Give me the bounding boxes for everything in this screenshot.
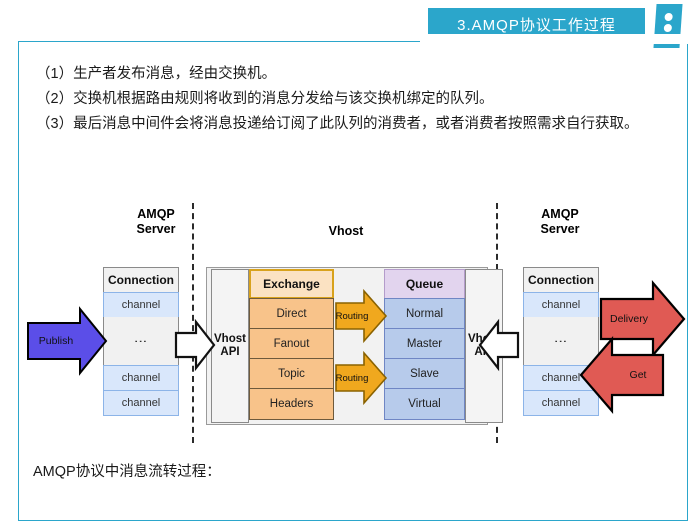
right-channel-ellipsis: ⋮: [523, 317, 599, 366]
left-server-title-line1: AMQP: [137, 207, 175, 221]
bottom-caption: AMQP协议中消息流转过程：: [33, 460, 221, 481]
get-arrow-label: Get: [616, 367, 660, 383]
exchange-item-fanout: Fanout: [249, 328, 334, 359]
right-channel-b2: channel: [523, 390, 599, 416]
vhost-api-right: Vhost API: [465, 269, 503, 423]
left-connection-column: Connection channel ⋮ channel channel: [103, 267, 179, 416]
delivery-arrow-icon: [601, 283, 684, 355]
queue-item-master: Master: [384, 328, 465, 359]
queue-item-slave: Slave: [384, 358, 465, 389]
dashed-separator-left: [192, 203, 194, 443]
right-server-title-line1: AMQP: [541, 207, 579, 221]
queue-stack: Queue Normal Master Slave Virtual: [384, 269, 465, 420]
right-server-title-line2: Server: [541, 222, 580, 236]
frame-top-mask: [420, 34, 688, 44]
vhost-api-left-line2: API: [220, 346, 239, 359]
right-connection-header: Connection: [523, 267, 599, 293]
vhost-api-right-line2: API: [474, 346, 493, 359]
publish-arrow-label: Publish: [30, 333, 82, 349]
exchange-header: Exchange: [249, 269, 334, 299]
left-channel-b1: channel: [103, 365, 179, 391]
exchange-stack: Exchange Direct Fanout Topic Headers: [249, 269, 334, 420]
right-channel-b1: channel: [523, 365, 599, 391]
left-channel-ellipsis: ⋮: [103, 317, 179, 366]
amqp-flow-diagram: AMQP Server Vhost AMQP Server Connection…: [18, 195, 688, 445]
left-connection-header: Connection: [103, 267, 179, 293]
right-server-title: AMQP Server: [520, 207, 600, 237]
right-channel-top: channel: [523, 292, 599, 318]
step-item-2: （2）交换机根据路由规则将收到的消息分发给与该交换机绑定的队列。: [36, 87, 664, 112]
queue-header: Queue: [384, 269, 465, 299]
exchange-item-direct: Direct: [249, 298, 334, 329]
queue-item-virtual: Virtual: [384, 388, 465, 420]
vhost-api-right-line1: Vhost: [468, 333, 500, 346]
badge-dot-icon: [664, 13, 673, 21]
vhost-api-left-line1: Vhost: [214, 333, 246, 346]
left-channel-top: channel: [103, 292, 179, 318]
left-server-title: AMQP Server: [116, 207, 196, 237]
vhost-api-left: Vhost API: [211, 269, 249, 423]
badge-dot-icon: [664, 24, 673, 32]
step-item-3: （3）最后消息中间件会将消息投递给订阅了此队列的消费者，或者消费者按照需求自行获…: [36, 112, 664, 137]
vhost-title-text: Vhost: [329, 224, 364, 238]
right-connection-column: Connection channel ⋮ channel channel: [523, 267, 599, 416]
steps-list: （1）生产者发布消息，经由交换机。 （2）交换机根据路由规则将收到的消息分发给与…: [36, 62, 664, 137]
step-item-1: （1）生产者发布消息，经由交换机。: [36, 62, 664, 87]
queue-item-normal: Normal: [384, 298, 465, 329]
left-server-title-line2: Server: [137, 222, 176, 236]
exchange-item-headers: Headers: [249, 388, 334, 420]
left-channel-b2: channel: [103, 390, 179, 416]
vhost-title: Vhost: [306, 224, 386, 239]
publish-arrow-icon: [28, 309, 106, 373]
delivery-arrow-label: Delivery: [604, 311, 654, 327]
exchange-item-topic: Topic: [249, 358, 334, 389]
